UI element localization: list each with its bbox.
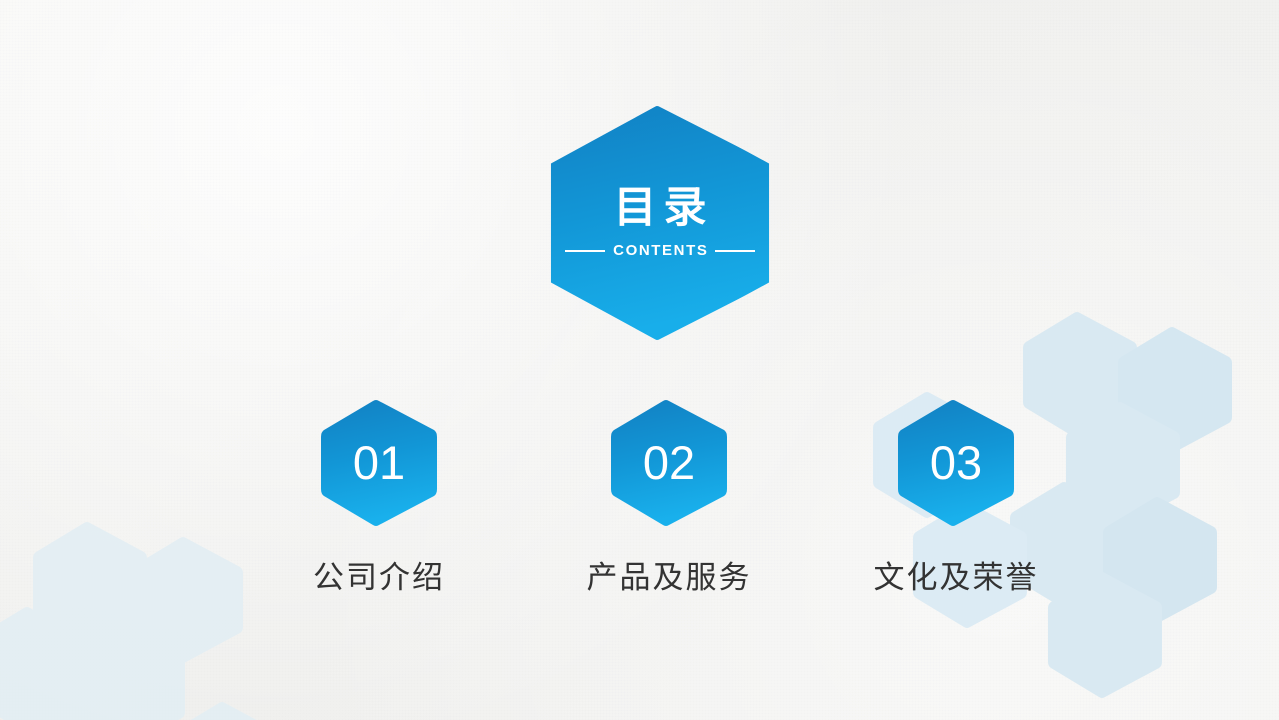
item-number-02: 02 bbox=[608, 398, 730, 528]
page-title: 目录 bbox=[607, 187, 714, 230]
page-subtitle: CONTENTS bbox=[612, 242, 709, 259]
decoration-svg bbox=[0, 0, 1279, 720]
contents-item-02[interactable]: 02 产品及服务 bbox=[549, 398, 789, 595]
item-label-02[interactable]: 产品及服务 bbox=[549, 561, 789, 595]
hexagon-icon-03[interactable]: 03 bbox=[895, 398, 1017, 528]
background-decoration-layer bbox=[0, 0, 1279, 720]
hexagon-cluster-bottom-left bbox=[0, 522, 282, 720]
item-number-01: 01 bbox=[318, 398, 440, 528]
rule-right-icon bbox=[715, 250, 755, 252]
rule-left-icon bbox=[565, 250, 605, 252]
hexagon-icon-01[interactable]: 01 bbox=[318, 398, 440, 528]
contents-hexagon-content: 目录 CONTENTS bbox=[544, 104, 776, 342]
item-number-03: 03 bbox=[895, 398, 1017, 528]
contents-item-03[interactable]: 03 文化及荣誉 bbox=[836, 398, 1076, 595]
contents-subtitle-row: CONTENTS bbox=[560, 242, 760, 259]
contents-item-01[interactable]: 01 公司介绍 bbox=[259, 398, 499, 595]
item-label-01[interactable]: 公司介绍 bbox=[259, 561, 499, 595]
slide-canvas: 目录 CONTENTS 01 公司介绍 bbox=[0, 0, 1279, 720]
hexagon-icon-02[interactable]: 02 bbox=[608, 398, 730, 528]
contents-hexagon-icon: 目录 CONTENTS bbox=[544, 104, 776, 342]
item-label-03[interactable]: 文化及荣誉 bbox=[836, 561, 1076, 595]
